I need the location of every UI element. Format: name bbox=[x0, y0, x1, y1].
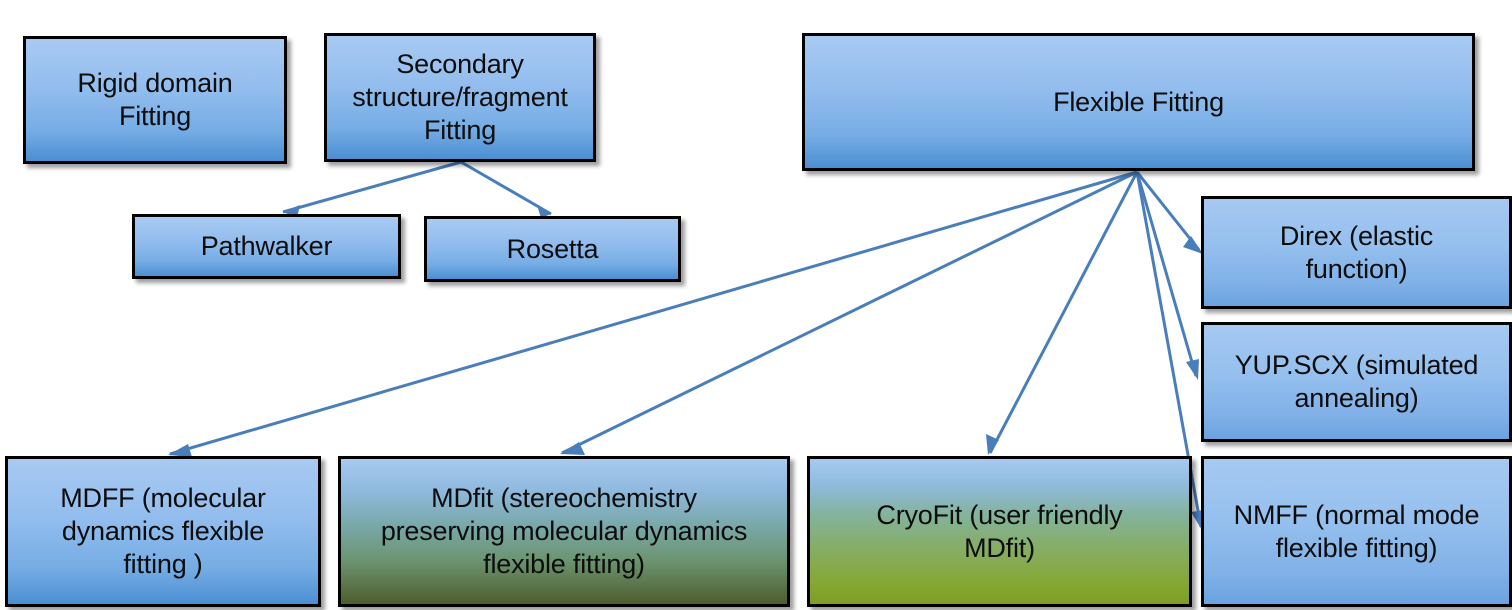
node-rigid-domain-fitting[interactable]: Rigid domain Fitting bbox=[23, 36, 287, 164]
node-rosetta[interactable]: Rosetta bbox=[424, 216, 681, 282]
edge-secondary-to-pathwalker bbox=[283, 162, 461, 218]
node-label-line2: structure/fragment bbox=[352, 82, 568, 112]
node-label: Pathwalker bbox=[201, 230, 333, 263]
node-label-line2: flexible fitting) bbox=[1276, 533, 1438, 563]
node-label-line2: MDfit) bbox=[964, 533, 1035, 563]
node-label-line1: Secondary bbox=[396, 49, 523, 79]
diagram-canvas: Rigid domain Fitting Secondary structure… bbox=[0, 0, 1512, 610]
node-mdff[interactable]: MDFF (molecular dynamics flexible fittin… bbox=[5, 456, 321, 607]
node-label-line2: dynamics flexible bbox=[62, 516, 264, 546]
node-label: YUP.SCX (simulated annealing) bbox=[1235, 349, 1479, 415]
node-label: Secondary structure/fragment Fitting bbox=[352, 48, 568, 147]
node-label: Rosetta bbox=[507, 233, 599, 266]
node-label-line1: YUP.SCX (simulated bbox=[1235, 350, 1479, 380]
node-label: MDFF (molecular dynamics flexible fittin… bbox=[60, 482, 266, 581]
node-label: Direx (elastic function) bbox=[1280, 220, 1433, 286]
node-label-line1: CryoFit (user friendly bbox=[876, 500, 1122, 530]
node-label: MDfit (stereochemistry preserving molecu… bbox=[381, 482, 747, 581]
node-cryofit[interactable]: CryoFit (user friendly MDfit) bbox=[807, 456, 1192, 607]
node-label: Rigid domain Fitting bbox=[77, 67, 232, 133]
node-label: NMFF (normal mode flexible fitting) bbox=[1234, 499, 1480, 565]
node-nmff[interactable]: NMFF (normal mode flexible fitting) bbox=[1201, 456, 1512, 607]
node-label-line2: annealing) bbox=[1294, 383, 1418, 413]
node-label-line3: Fitting bbox=[424, 115, 496, 145]
node-label-line2: preserving molecular dynamics bbox=[381, 516, 747, 546]
node-label-line1: NMFF (normal mode bbox=[1234, 500, 1480, 530]
node-secondary-structure-fragment-fitting[interactable]: Secondary structure/fragment Fitting bbox=[324, 33, 596, 162]
node-yupscx[interactable]: YUP.SCX (simulated annealing) bbox=[1201, 322, 1512, 442]
node-label-line1: MDFF (molecular bbox=[60, 483, 266, 513]
node-label: CryoFit (user friendly MDfit) bbox=[876, 499, 1122, 565]
node-mdfit[interactable]: MDfit (stereochemistry preserving molecu… bbox=[338, 456, 790, 607]
node-direx[interactable]: Direx (elastic function) bbox=[1201, 196, 1512, 309]
edge-secondary-to-rosetta bbox=[461, 162, 551, 218]
node-label: Flexible Fitting bbox=[1053, 86, 1224, 119]
node-label-line2: Fitting bbox=[119, 101, 191, 131]
node-label-line1: Rigid domain bbox=[77, 68, 232, 98]
node-label-line3: flexible fitting) bbox=[483, 549, 645, 579]
node-label-line1: MDfit (stereochemistry bbox=[431, 483, 697, 513]
node-pathwalker[interactable]: Pathwalker bbox=[132, 214, 401, 279]
node-flexible-fitting[interactable]: Flexible Fitting bbox=[802, 33, 1475, 171]
edge-flexible-to-cryofit bbox=[986, 172, 1137, 455]
node-label-line3: fitting ) bbox=[123, 549, 202, 579]
edge-flexible-to-direx bbox=[1137, 172, 1203, 254]
node-label-line2: function) bbox=[1306, 254, 1408, 284]
node-label-line1: Direx (elastic bbox=[1280, 221, 1433, 251]
